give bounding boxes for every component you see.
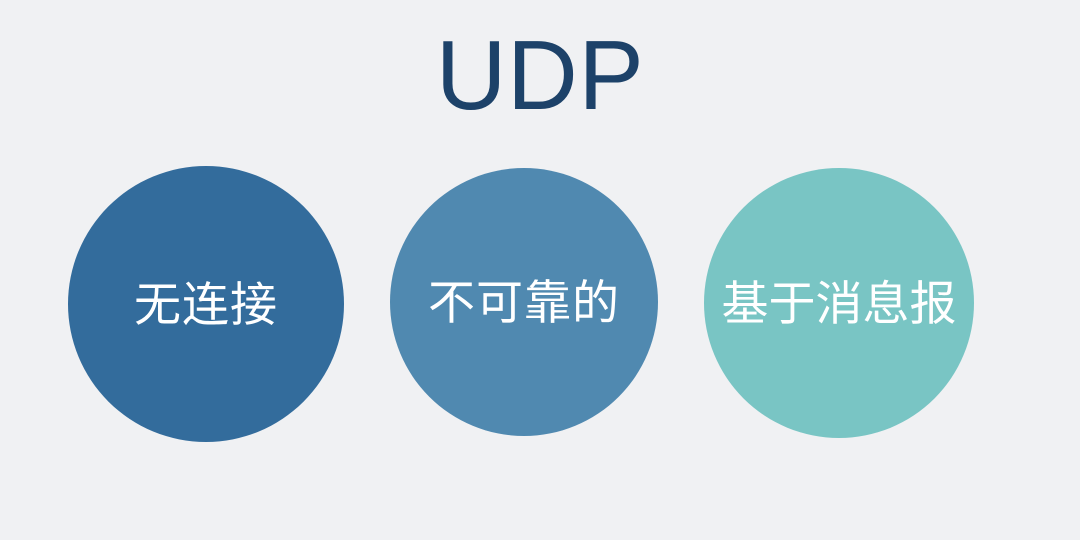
bubble-connectionless[interactable]: 无连接 bbox=[68, 166, 344, 442]
bubble-label-unreliable: 不可靠的 bbox=[428, 279, 620, 326]
bubble-group: 无连接 不可靠的 基于消息报 bbox=[0, 0, 1080, 540]
bubble-unreliable[interactable]: 不可靠的 bbox=[390, 168, 658, 436]
bubble-label-connectionless: 无连接 bbox=[134, 281, 278, 328]
bubble-message-based[interactable]: 基于消息报 bbox=[704, 168, 974, 438]
bubble-label-message-based: 基于消息报 bbox=[722, 280, 957, 327]
slide-canvas: UDP 无连接 不可靠的 基于消息报 bbox=[0, 0, 1080, 540]
